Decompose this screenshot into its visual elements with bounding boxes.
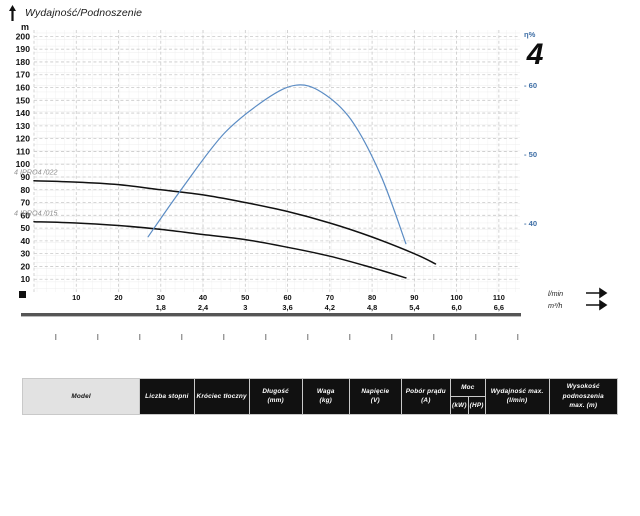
y-tick-10: 10 — [20, 274, 30, 284]
minor-tick — [307, 334, 308, 340]
y-tick-110: 110 — [16, 146, 30, 156]
square-marker — [19, 291, 26, 298]
eta-axis-title: η% — [524, 30, 536, 39]
y-tick-180: 180 — [16, 57, 31, 67]
x-tick-70: 70 — [326, 293, 334, 302]
col-current: Pobór prądu (A) — [401, 379, 450, 415]
minor-tick — [265, 334, 266, 340]
chart-plot-area: 2001901801701601501401301201101009080706… — [0, 0, 640, 360]
curve-label-1: 4 IPRO4 /015 — [14, 208, 59, 217]
x-tick-30: 30 — [157, 293, 165, 302]
y-tick-80: 80 — [20, 185, 30, 195]
y-tick-140: 140 — [16, 108, 31, 118]
eta-tick-50: - 50 — [524, 150, 537, 159]
eta-axis-labels: η%- 60- 50- 40 — [524, 30, 537, 228]
col-weight: Waga (kg) — [302, 379, 349, 415]
x-tick-40: 40 — [199, 293, 207, 302]
pump-performance-chart: Wydajność/Podnoszenie m 4 IPRO 4 2001901… — [0, 0, 640, 360]
x-axis-secondary-labels: 1,82,433,64,24,85,46,06,6 — [156, 303, 504, 312]
col-power-group: Moc — [451, 379, 486, 397]
x-tick-110: 110 — [493, 293, 505, 302]
y-tick-30: 30 — [20, 249, 30, 259]
y-tick-190: 190 — [16, 44, 31, 54]
col-length: Długość (mm) — [249, 379, 302, 415]
minor-tick — [433, 334, 434, 340]
minor-tick — [97, 334, 98, 340]
x-tick-secondary-3: 2,4 — [198, 303, 209, 312]
minor-tick — [475, 334, 476, 340]
x-tick-60: 60 — [283, 293, 291, 302]
x-axis-bar — [21, 313, 521, 316]
col-voltage: Napięcie (V) — [350, 379, 402, 415]
x-tick-100: 100 — [450, 293, 462, 302]
x-tick-secondary-5: 3,6 — [282, 303, 292, 312]
col-stages: Liczba stopni — [140, 379, 194, 415]
x-tick-secondary-6: 4,2 — [325, 303, 335, 312]
x-tick-80: 80 — [368, 293, 376, 302]
y-tick-150: 150 — [16, 95, 31, 105]
y-tick-120: 120 — [16, 134, 31, 144]
x-tick-secondary-9: 6,0 — [451, 303, 461, 312]
y-tick-130: 130 — [16, 121, 31, 131]
x-tick-20: 20 — [114, 293, 122, 302]
col-power-hp: (HP) — [468, 396, 485, 414]
x-axis-labels: 102030405060708090100110 — [72, 293, 505, 302]
minor-tick — [223, 334, 224, 340]
arrow-right-icon — [586, 289, 606, 309]
x-tick-secondary-4: 3 — [243, 303, 247, 312]
table-header: Model Liczba stopni Króciec tłoczny Dług… — [23, 379, 618, 415]
minor-tick — [181, 334, 182, 340]
col-model: Model — [23, 379, 140, 415]
x-unit-secondary-label: m³/h — [548, 301, 562, 310]
minor-tick — [349, 334, 350, 340]
y-tick-20: 20 — [20, 261, 30, 271]
x-tick-secondary-2: 1,8 — [156, 303, 166, 312]
col-max-head: Wysokość podnoszenia max. (m) — [549, 379, 617, 415]
x-unit-primary-label: l/min — [548, 289, 563, 298]
x-tick-10: 10 — [72, 293, 80, 302]
eta-tick-40: - 40 — [524, 219, 537, 228]
minor-tick — [517, 334, 518, 340]
y-tick-40: 40 — [20, 236, 30, 246]
y-axis-labels: 2001901801701601501401301201101009080706… — [16, 31, 31, 284]
y-tick-170: 170 — [16, 70, 31, 80]
x-axis-minor-ticks — [55, 334, 518, 340]
x-tick-50: 50 — [241, 293, 249, 302]
y-tick-70: 70 — [20, 198, 30, 208]
col-max-flow: Wydajność max. (l/min) — [485, 379, 549, 415]
x-tick-secondary-8: 5,4 — [409, 303, 420, 312]
y-tick-50: 50 — [20, 223, 30, 233]
col-power-kw: (kW) — [451, 396, 469, 414]
curve-label-0: 4 IPRO4 /022 — [14, 167, 58, 176]
y-tick-160: 160 — [16, 83, 31, 93]
x-tick-secondary-7: 4,8 — [367, 303, 377, 312]
y-tick-200: 200 — [16, 31, 31, 41]
x-tick-secondary-10: 6,6 — [494, 303, 504, 312]
minor-tick — [55, 334, 56, 340]
col-outlet: Króciec tłoczny — [194, 379, 249, 415]
x-tick-90: 90 — [410, 293, 418, 302]
minor-tick — [391, 334, 392, 340]
eta-tick-60: - 60 — [524, 81, 537, 90]
specifications-table: Model Liczba stopni Króciec tłoczny Dług… — [22, 378, 618, 415]
minor-tick — [139, 334, 140, 340]
